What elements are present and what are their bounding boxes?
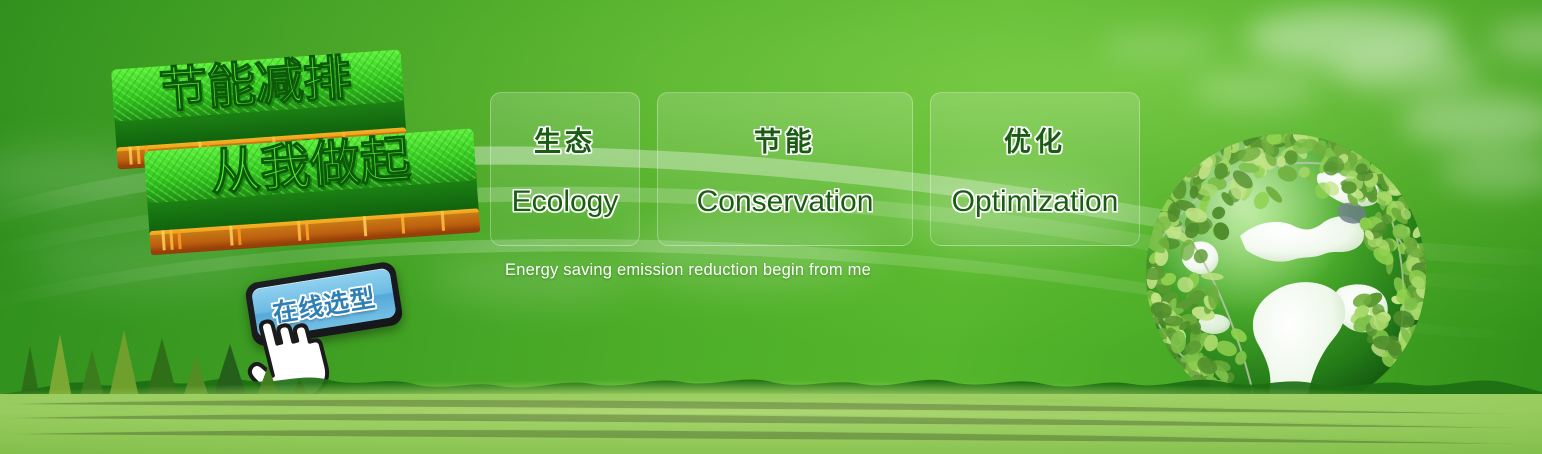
eco-promo-banner: 节能减排 节能减排 GREEN [0, 0, 1542, 454]
feature-card-optimization[interactable]: 优化 Optimization [930, 92, 1140, 246]
feature-card-cn-label: 优化 [1004, 120, 1066, 159]
cloud-icon [1100, 30, 1220, 64]
cloud-icon [1190, 70, 1320, 110]
feature-card-en-label: Conservation [697, 185, 874, 219]
feature-card-conservation[interactable]: 节能 Conservation [657, 92, 913, 246]
grass-texture [0, 390, 1542, 454]
cloud-icon [1330, 48, 1480, 94]
cloud-icon [1440, 150, 1542, 194]
feature-card-cn-label: 生态 [534, 120, 596, 159]
feature-card-en-label: Optimization [952, 185, 1119, 219]
cloud-icon [1245, 8, 1455, 68]
feature-card-en-label: Ecology [512, 185, 619, 219]
feature-card-list: 生态 Ecology 节能 Conservation 优化 Optimizati… [490, 92, 1140, 246]
banner-tagline: Energy saving emission reduction begin f… [505, 261, 871, 280]
feature-card-cn-label: 节能 [754, 120, 816, 159]
headline-artwork: 节能减排 节能减排 GREEN [100, 36, 500, 276]
feature-card-ecology[interactable]: 生态 Ecology [490, 92, 640, 246]
cloud-icon [1490, 20, 1542, 60]
